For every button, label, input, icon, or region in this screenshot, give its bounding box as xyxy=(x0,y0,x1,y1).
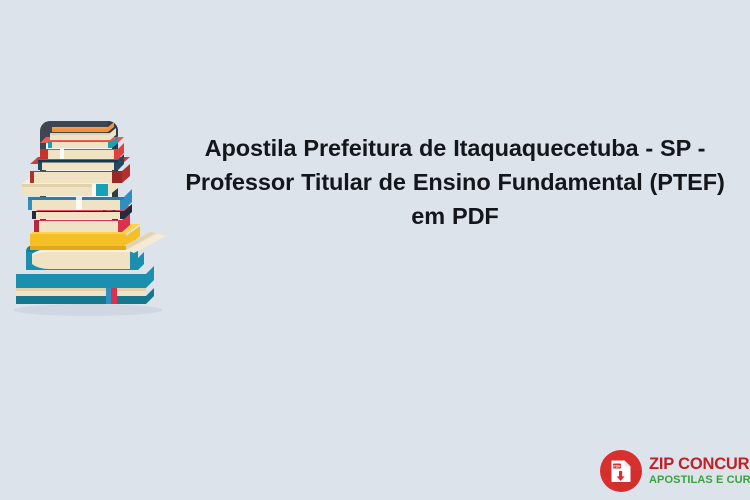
brand-logo[interactable]: PDF ZIP CONCURSOS APOSTILAS E CURSOS xyxy=(600,449,746,493)
page-title: Apostila Prefeitura de Itaquaquecetuba -… xyxy=(185,131,725,233)
brand-wordmark: ZIP CONCURSOS APOSTILAS E CURSOS xyxy=(649,456,750,487)
pdf-document-download-icon: PDF xyxy=(600,450,642,492)
brand-name: ZIP CONCURSOS xyxy=(649,456,750,473)
book-bottom-teal xyxy=(16,266,154,304)
brand-tagline: APOSTILAS E CURSOS xyxy=(649,475,750,486)
tablet-with-book-stack-illustration xyxy=(8,118,180,323)
product-banner: Apostila Prefeitura de Itaquaquecetuba -… xyxy=(0,0,750,500)
svg-text:PDF: PDF xyxy=(613,465,621,469)
title-block: Apostila Prefeitura de Itaquaquecetuba -… xyxy=(185,131,725,233)
